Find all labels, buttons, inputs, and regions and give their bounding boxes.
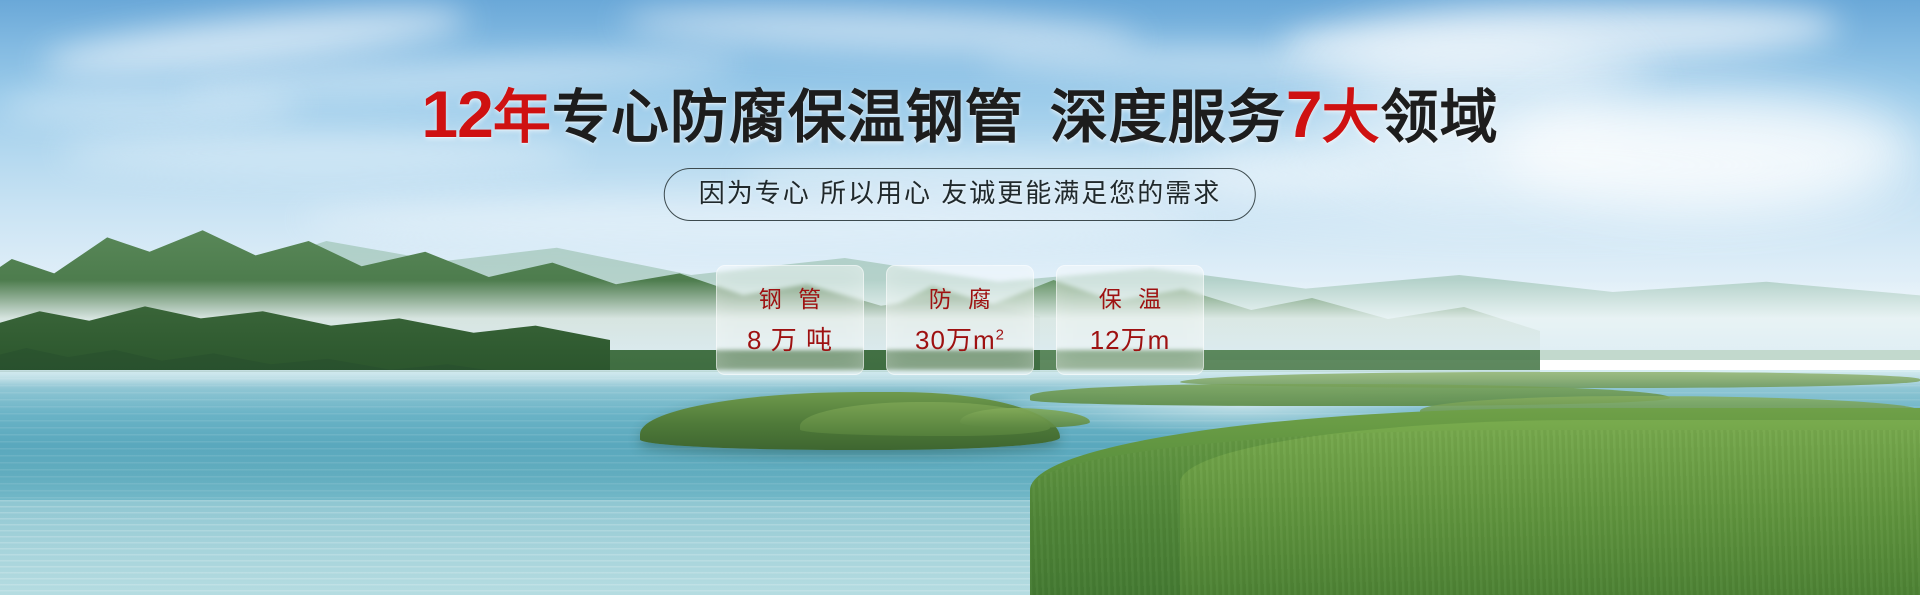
headline-service-text: 深度服务 [1050,85,1286,150]
stat-value-text: 8 万 吨 [747,325,833,355]
stat-value-superscript: 2 [996,326,1005,343]
banner-content: 12年专心防腐保温钢管深度服务7大领域 因为专心 所以用心 友诚更能满足您的需求… [0,0,1920,595]
stat-card-group: 钢 管 8 万 吨 防 腐 30万m2 保 温 12万m [716,265,1204,375]
banner-subtitle-pill: 因为专心 所以用心 友诚更能满足您的需求 [664,168,1256,221]
stat-value: 30万m2 [915,326,1005,354]
stat-label: 保 温 [1094,286,1166,312]
promo-banner: 12年专心防腐保温钢管深度服务7大领域 因为专心 所以用心 友诚更能满足您的需求… [0,0,1920,595]
headline-fields-unit: 大 [1322,85,1381,150]
headline-fields-number: 7 [1286,77,1322,151]
stat-value: 12万m [1090,326,1171,354]
stat-value-text: 30万m [915,325,996,355]
headline-years-unit: 年 [493,85,552,150]
stat-label: 防 腐 [924,286,996,312]
stat-card-anticorrosion[interactable]: 防 腐 30万m2 [886,265,1034,375]
headline-years-number: 12 [421,77,492,151]
stat-value: 8 万 吨 [747,326,833,354]
headline-fields-text: 领域 [1381,85,1499,150]
stat-value-text: 12万m [1090,325,1171,355]
banner-headline: 12年专心防腐保温钢管深度服务7大领域 [0,82,1920,150]
stat-card-insulation[interactable]: 保 温 12万m [1056,265,1204,375]
headline-main-text: 专心防腐保温钢管 [552,85,1024,150]
stat-card-steel-pipe[interactable]: 钢 管 8 万 吨 [716,265,864,375]
stat-label: 钢 管 [754,286,826,312]
